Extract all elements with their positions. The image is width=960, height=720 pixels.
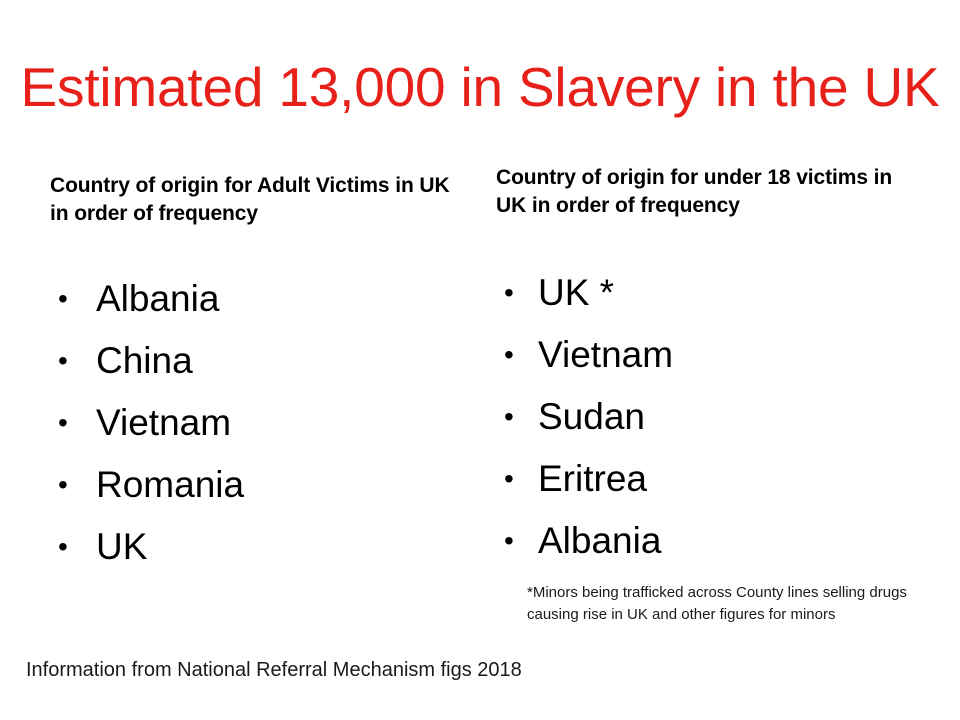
bullet-list-under18: • UK * • Vietnam • Sudan • Eritrea • Alb…: [496, 262, 926, 572]
column-heading-under18: Country of origin for under 18 victims i…: [496, 160, 926, 220]
list-item-label: Romania: [96, 464, 244, 505]
column-heading-adult: Country of origin for Adult Victims in U…: [50, 160, 470, 228]
bullet-icon: •: [504, 510, 514, 572]
list-item: • UK *: [496, 262, 926, 324]
slide-canvas: Estimated 13,000 in Slavery in the UK Co…: [0, 0, 960, 720]
bullet-list-adult: • Albania • China • Vietnam • Romania • …: [50, 268, 470, 578]
bullet-icon: •: [504, 386, 514, 448]
page-title: Estimated 13,000 in Slavery in the UK: [0, 56, 960, 118]
list-item: • Sudan: [496, 386, 926, 448]
list-item: • Vietnam: [50, 392, 470, 454]
source-attribution: Information from National Referral Mecha…: [26, 657, 522, 683]
list-item-label: Vietnam: [538, 334, 673, 375]
list-item: • Vietnam: [496, 324, 926, 386]
column-under18-victims: Country of origin for under 18 victims i…: [496, 160, 926, 572]
column-adult-victims: Country of origin for Adult Victims in U…: [50, 160, 470, 578]
bullet-icon: •: [58, 392, 68, 454]
bullet-icon: •: [504, 324, 514, 386]
bullet-icon: •: [58, 454, 68, 516]
list-item: • Albania: [50, 268, 470, 330]
list-item-label: China: [96, 340, 193, 381]
list-item-label: UK *: [538, 272, 614, 313]
list-item-label: Vietnam: [96, 402, 231, 443]
bullet-icon: •: [58, 330, 68, 392]
list-item: • Romania: [50, 454, 470, 516]
list-item-label: UK: [96, 526, 147, 567]
list-item-label: Eritrea: [538, 458, 647, 499]
list-item: • Albania: [496, 510, 926, 572]
list-item-label: Sudan: [538, 396, 645, 437]
bullet-icon: •: [504, 448, 514, 510]
bullet-icon: •: [58, 516, 68, 578]
bullet-icon: •: [504, 262, 514, 324]
list-item: • UK: [50, 516, 470, 578]
list-item-label: Albania: [538, 520, 661, 561]
list-item: • China: [50, 330, 470, 392]
footnote-minors: *Minors being trafficked across County l…: [527, 582, 927, 626]
list-item-label: Albania: [96, 278, 219, 319]
bullet-icon: •: [58, 268, 68, 330]
list-item: • Eritrea: [496, 448, 926, 510]
